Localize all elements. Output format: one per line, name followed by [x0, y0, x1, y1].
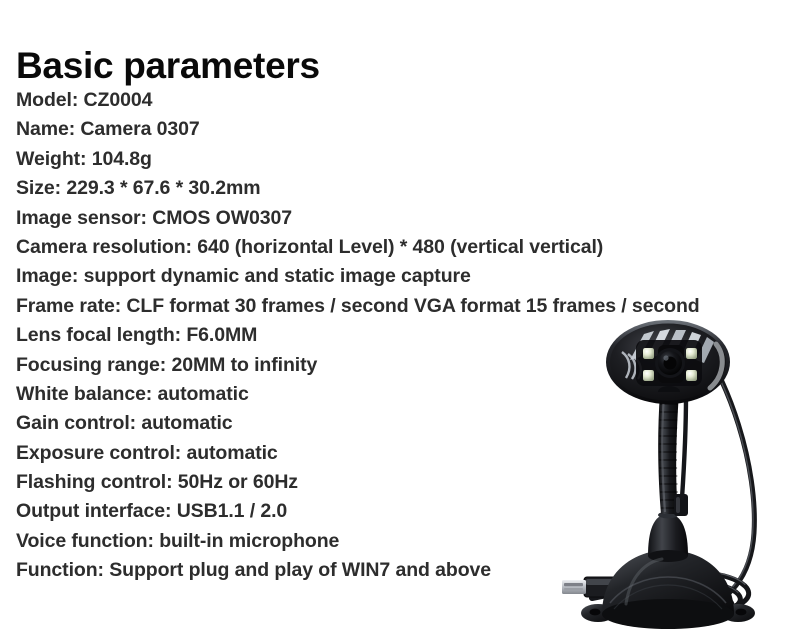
spec-line-model: Model: CZ0004 [16, 86, 800, 115]
spec-line-image-sensor: Image sensor: CMOS OW0307 [16, 204, 800, 233]
page-title: Basic parameters [16, 47, 320, 86]
product-spec-page: Basic parameters Model: CZ0004 Name: Cam… [0, 0, 800, 637]
spec-line-weight: Weight: 104.8g [16, 145, 800, 174]
suction-base [581, 512, 755, 629]
led-top-right [686, 348, 697, 359]
webcam-product-photo [540, 318, 800, 637]
spec-line-size: Size: 229.3 * 67.6 * 30.2mm [16, 174, 800, 203]
led-bottom-right [686, 370, 697, 381]
spec-line-name: Name: Camera 0307 [16, 115, 800, 144]
spec-line-frame-rate: Frame rate: CLF format 30 frames / secon… [16, 292, 800, 321]
spec-line-camera-resolution: Camera resolution: 640 (horizontal Level… [16, 233, 800, 262]
led-top-left [643, 348, 654, 359]
led-bottom-left [643, 370, 654, 381]
spec-line-image: Image: support dynamic and static image … [16, 262, 800, 291]
